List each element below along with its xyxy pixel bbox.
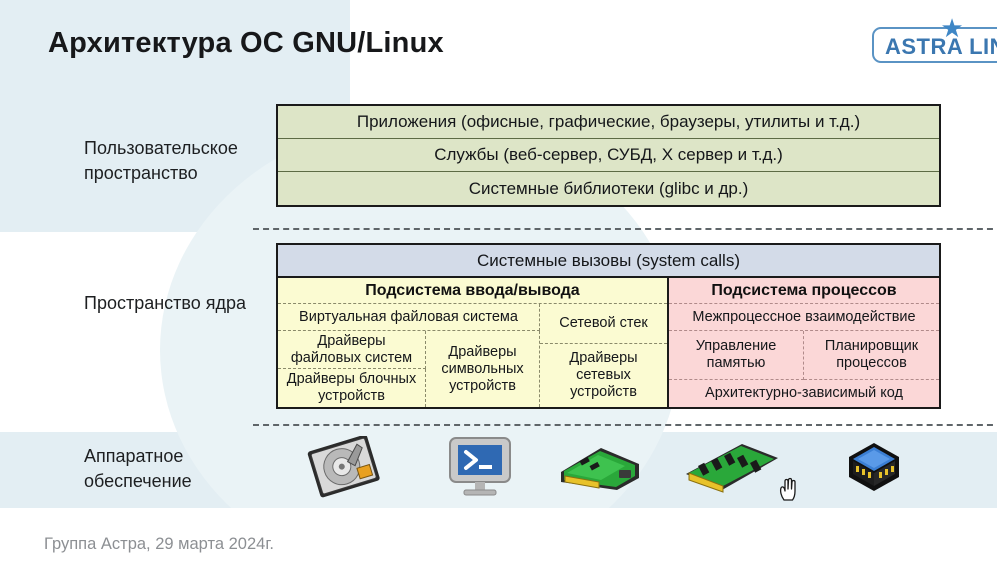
astra-linux-logo: ★ ASTRA LINUX	[872, 27, 997, 63]
io-subsystem-heading: Подсистема ввода/вывода	[278, 278, 667, 304]
hard-disk-drive-icon	[305, 436, 383, 503]
label-hardware: Аппаратное обеспечение	[84, 444, 274, 494]
system-calls-row: Системные вызовы (system calls)	[278, 245, 939, 278]
process-subsystem-heading: Подсистема процессов	[669, 278, 939, 304]
label-kernel-space: Пространство ядра	[84, 291, 274, 316]
cell-memory-management: Управление памятью	[669, 331, 804, 380]
cell-vfs: Виртуальная файловая система	[278, 304, 540, 331]
footer-text: Группа Астра, 29 марта 2024г.	[44, 535, 274, 554]
user-space-row-applications: Приложения (офисные, графические, браузе…	[278, 106, 939, 139]
network-card-icon	[555, 442, 645, 499]
separator-userspace-kernel	[253, 228, 997, 230]
io-subsystem: Подсистема ввода/вывода Виртуальная файл…	[278, 278, 667, 407]
page-title: Архитектура ОС GNU/Linux	[48, 27, 444, 60]
slide-canvas: Архитектура ОС GNU/Linux ★ ASTRA LINUX П…	[0, 0, 997, 576]
ram-module-icon	[682, 440, 782, 501]
cell-ipc: Межпроцессное взаимодействие	[669, 304, 939, 331]
io-driver-col-left: Драйверы файловых систем Драйверы блочны…	[278, 331, 426, 407]
cell-scheduler: Планировщик процессов	[804, 331, 939, 380]
logo-label: ASTRA LINUX	[885, 34, 997, 60]
monitor-terminal-icon	[447, 436, 513, 501]
user-space-stack: Приложения (офисные, графические, браузе…	[276, 104, 941, 207]
user-space-row-libraries: Системные библиотеки (glibc и др.)	[278, 172, 939, 205]
io-right-group: Сетевой стек Драйверы сетевых устройств	[540, 304, 667, 407]
cell-fs-drivers: Драйверы файловых систем	[278, 331, 426, 369]
kernel-subsystems: Подсистема ввода/вывода Виртуальная файл…	[278, 278, 939, 407]
separator-kernel-hardware	[253, 424, 997, 426]
cell-block-drivers: Драйверы блочных устройств	[278, 369, 426, 407]
user-space-row-services: Службы (веб-сервер, СУБД, X сервер и т.д…	[278, 139, 939, 172]
cpu-chip-icon	[845, 440, 903, 499]
process-subsystem: Подсистема процессов Межпроцессное взаим…	[667, 278, 939, 407]
process-mid-row: Управление памятью Планировщик процессов	[669, 331, 939, 380]
cell-char-drivers: Драйверы символьных устройств	[426, 331, 540, 407]
kernel-space-stack: Системные вызовы (system calls) Подсисте…	[276, 243, 941, 409]
label-user-space: Пользовательское пространство	[84, 136, 274, 186]
cell-network-drivers: Драйверы сетевых устройств	[540, 344, 667, 407]
cell-arch-dependent-code: Архитектурно-зависимый код	[669, 380, 939, 407]
io-left-group: Виртуальная файловая система Драйверы фа…	[278, 304, 540, 407]
io-driver-row: Драйверы файловых систем Драйверы блочны…	[278, 331, 540, 407]
mouse-cursor-hand	[778, 477, 800, 503]
cell-network-stack: Сетевой стек	[540, 304, 667, 344]
io-subsystem-grid: Виртуальная файловая система Драйверы фа…	[278, 304, 667, 407]
